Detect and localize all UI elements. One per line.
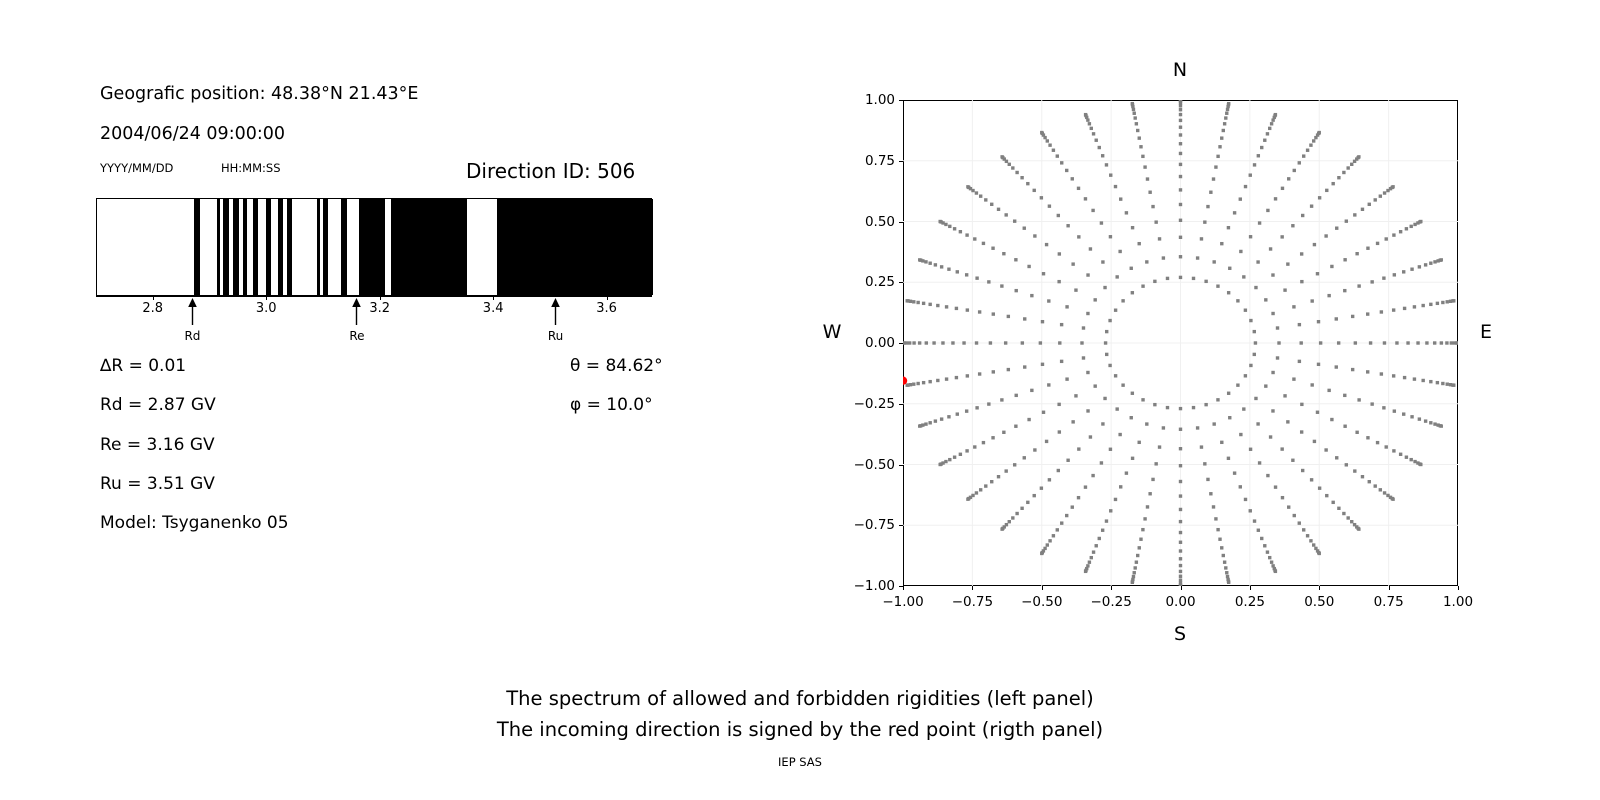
date-format-hint: YYYY/MM/DD	[100, 161, 173, 175]
polar-x-tick-label: −0.50	[1021, 594, 1062, 610]
spectrum-tick-mark	[493, 296, 494, 300]
polar-y-tick-mark	[899, 161, 903, 162]
forbidden-band	[266, 199, 271, 295]
compass-label-west: W	[823, 321, 842, 343]
caption-line-1: The spectrum of allowed and forbidden ri…	[506, 687, 1094, 710]
spectrum-tick-label: 3.2	[369, 301, 390, 316]
forbidden-band	[243, 199, 248, 295]
footer-credit: IEP SAS	[778, 755, 822, 769]
param-re: Re = 3.16 GV	[100, 435, 215, 455]
polar-y-tick-label: 0.25	[825, 274, 895, 290]
rigidity-spectrum-plot	[96, 198, 652, 296]
forbidden-band	[223, 199, 229, 295]
forbidden-band	[497, 199, 557, 295]
param-delta-r: ∆R = 0.01	[100, 356, 186, 376]
spectrum-canvas	[96, 198, 652, 296]
polar-y-tick-label: −0.75	[825, 517, 895, 533]
forbidden-band	[194, 199, 200, 295]
polar-x-tick-mark	[1389, 586, 1390, 590]
polar-x-tick-label: −0.25	[1090, 594, 1131, 610]
polar-x-tick-label: 0.75	[1374, 594, 1404, 610]
polar-x-tick-mark	[1458, 586, 1459, 590]
polar-y-tick-label: 1.00	[825, 92, 895, 108]
rigidity-marker-label: Rd	[184, 329, 200, 343]
polar-y-tick-mark	[899, 525, 903, 526]
forbidden-band	[217, 199, 220, 295]
forbidden-band	[341, 199, 348, 295]
datetime-text: 2004/06/24 09:00:00	[100, 124, 285, 144]
polar-x-tick-mark	[903, 586, 904, 590]
polar-y-tick-label: −0.50	[825, 457, 895, 473]
spectrum-axis-line	[96, 296, 652, 297]
spectrum-tick-label: 3.4	[483, 301, 504, 316]
spectrum-tick-label: 2.8	[142, 301, 163, 316]
rigidity-marker-label: Ru	[548, 329, 563, 343]
param-ru: Ru = 3.51 GV	[100, 474, 215, 494]
polar-x-tick-label: −1.00	[882, 594, 923, 610]
polar-x-tick-label: 0.50	[1304, 594, 1334, 610]
rigidity-marker-arrow	[549, 297, 561, 325]
rigidity-marker-label: Re	[349, 329, 364, 343]
spectrum-tick-mark	[607, 296, 608, 300]
param-model: Model: Tsyganenko 05	[100, 513, 289, 533]
forbidden-band	[557, 199, 653, 295]
rigidity-marker-arrow	[186, 297, 198, 325]
spectrum-tick-mark	[380, 296, 381, 300]
spectrum-tick-mark	[266, 296, 267, 300]
polar-x-tick-mark	[1111, 586, 1112, 590]
spectrum-tick-label: 3.0	[256, 301, 277, 316]
polar-x-tick-mark	[1181, 586, 1182, 590]
forbidden-band	[359, 199, 385, 295]
forbidden-band	[323, 199, 328, 295]
polar-x-tick-mark	[1250, 586, 1251, 590]
forbidden-band	[253, 199, 258, 295]
forbidden-band	[391, 199, 467, 295]
polar-y-tick-label: −1.00	[825, 578, 895, 594]
forbidden-band	[233, 199, 239, 295]
param-theta: θ = 84.62°	[570, 356, 663, 376]
polar-scatter-svg	[903, 100, 1458, 586]
compass-label-north: N	[1173, 59, 1187, 81]
param-phi: φ = 10.0°	[570, 395, 653, 415]
polar-y-tick-mark	[899, 222, 903, 223]
time-format-hint: HH:MM:SS	[221, 161, 281, 175]
polar-y-tick-label: −0.25	[825, 396, 895, 412]
direction-scatter-plot	[903, 100, 1458, 586]
spectrum-tick-mark	[153, 296, 154, 300]
forbidden-band	[278, 199, 283, 295]
caption-line-2: The incoming direction is signed by the …	[497, 718, 1103, 741]
spectrum-tick-label: 3.6	[596, 301, 617, 316]
polar-y-tick-label: 0.75	[825, 153, 895, 169]
polar-x-tick-mark	[1319, 586, 1320, 590]
rigidity-marker-arrow	[350, 297, 362, 325]
compass-label-south: S	[1174, 623, 1186, 645]
polar-y-tick-mark	[899, 465, 903, 466]
polar-y-tick-mark	[899, 100, 903, 101]
forbidden-band	[287, 199, 292, 295]
polar-y-tick-mark	[899, 343, 903, 344]
polar-y-tick-label: 0.50	[825, 214, 895, 230]
polar-x-tick-mark	[972, 586, 973, 590]
polar-x-tick-label: 1.00	[1443, 594, 1473, 610]
polar-x-tick-mark	[1042, 586, 1043, 590]
forbidden-band	[317, 199, 320, 295]
polar-x-tick-label: 0.00	[1165, 594, 1195, 610]
polar-y-tick-mark	[899, 282, 903, 283]
polar-x-tick-label: −0.75	[952, 594, 993, 610]
polar-x-tick-label: 0.25	[1235, 594, 1265, 610]
compass-label-east: E	[1480, 321, 1492, 343]
geographic-position-text: Geografic position: 48.38°N 21.43°E	[100, 84, 418, 104]
polar-y-tick-mark	[899, 404, 903, 405]
param-rd: Rd = 2.87 GV	[100, 395, 216, 415]
direction-id-text: Direction ID: 506	[466, 159, 635, 183]
